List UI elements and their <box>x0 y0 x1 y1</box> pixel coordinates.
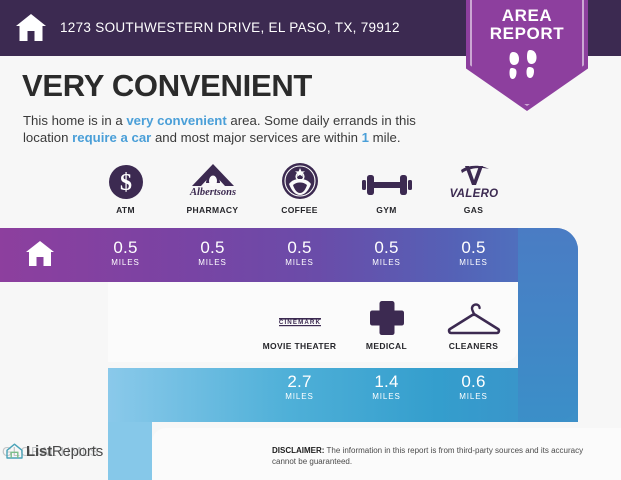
area-report-page: 1273 SOUTHWESTERN DRIVE, EL PASO, TX, 79… <box>0 0 621 480</box>
albertsons-logo-icon: Albertsons <box>169 160 256 200</box>
desc-part1: This home is in a <box>23 113 126 128</box>
brand-list: List <box>26 443 52 460</box>
valero-logo-icon: VALERO <box>430 160 517 200</box>
brand-reports: Reports <box>52 443 103 460</box>
amenity-label: CLEANERS <box>430 341 517 351</box>
desc-part3: and most major services are within <box>151 130 361 145</box>
starbucks-logo-icon <box>256 160 343 200</box>
distance-value: 1.4 <box>343 372 430 391</box>
amenity-label: PHARMACY <box>169 205 256 215</box>
desc-highlight-miles: 1 <box>362 130 369 145</box>
svg-text:VALERO: VALERO <box>449 188 498 200</box>
description-text: This home is in a very convenient area. … <box>23 112 448 146</box>
distance-value: 0.5 <box>82 238 169 257</box>
distance-value: 0.5 <box>343 238 430 257</box>
distance-unit: MILES <box>430 258 517 267</box>
disclaimer-label: DISCLAIMER: <box>272 446 324 455</box>
listreports-home-icon <box>6 443 23 459</box>
distance-value: 2.7 <box>256 372 343 391</box>
clothes-hanger-icon <box>430 296 517 336</box>
amenity-label: MEDICAL <box>343 341 430 351</box>
listreports-logo[interactable]: ListReports <box>6 440 103 462</box>
distance-unit: MILES <box>343 258 430 267</box>
distance-cell-gas: 0.5 MILES <box>430 238 517 267</box>
distance-unit: MILES <box>82 258 169 267</box>
svg-text:$: $ <box>120 170 132 196</box>
amenity-icons-row-1: $ ATM Albertsons PHARMACY <box>0 160 621 220</box>
amenity-atm: $ ATM <box>82 160 169 215</box>
page-title: VERY CONVENIENT <box>22 68 312 104</box>
distance-cell-atm: 0.5 MILES <box>82 238 169 267</box>
distance-cell-cleaners: 0.6 MILES <box>430 372 517 401</box>
cinemark-logo-icon: CINEMARK <box>256 296 343 336</box>
home-icon <box>15 13 47 43</box>
distance-cell-medical: 1.4 MILES <box>343 372 430 401</box>
distance-value: 0.6 <box>430 372 517 391</box>
distance-value: 0.5 <box>169 238 256 257</box>
distance-unit: MILES <box>169 258 256 267</box>
distance-value: 0.5 <box>430 238 517 257</box>
amenity-movie-theater: CINEMARK MOVIE THEATER <box>256 296 343 351</box>
amenity-gas: VALERO GAS <box>430 160 517 215</box>
amenity-coffee: COFFEE <box>256 160 343 215</box>
svg-text:Albertsons: Albertsons <box>188 187 235 198</box>
badge-line1: AREA <box>466 6 588 26</box>
distance-value: 0.5 <box>256 238 343 257</box>
amenity-gym: GYM <box>343 160 430 215</box>
svg-text:CINEMARK: CINEMARK <box>278 319 320 326</box>
distance-unit: MILES <box>430 392 517 401</box>
distance-cell-movie-theater: 2.7 MILES <box>256 372 343 401</box>
amenity-label: GYM <box>343 205 430 215</box>
amenity-pharmacy: Albertsons PHARMACY <box>169 160 256 215</box>
listreports-wordmark: ListReports <box>26 443 103 460</box>
desc-highlight-convenient: very convenient <box>126 113 226 128</box>
atm-dollar-icon: $ <box>82 160 169 200</box>
area-report-badge: AREA REPORT <box>466 0 588 111</box>
dumbbell-icon <box>343 160 430 200</box>
distance-cell-coffee: 0.5 MILES <box>256 238 343 267</box>
distance-unit: MILES <box>256 258 343 267</box>
amenity-label: ATM <box>82 205 169 215</box>
distance-unit: MILES <box>256 392 343 401</box>
amenity-label: COFFEE <box>256 205 343 215</box>
medical-cross-icon <box>343 296 430 336</box>
amenity-label: MOVIE THEATER <box>256 341 343 351</box>
amenity-cleaners: CLEANERS <box>430 296 517 351</box>
distance-cell-gym: 0.5 MILES <box>343 238 430 267</box>
amenity-icons-row-2: CINEMARK MOVIE THEATER MEDICAL CLEANERS <box>0 296 621 356</box>
footprints-icon <box>508 50 548 82</box>
desc-part4: mile. <box>369 130 401 145</box>
distance-unit: MILES <box>343 392 430 401</box>
amenity-medical: MEDICAL <box>343 296 430 351</box>
badge-line2: REPORT <box>466 24 588 44</box>
desc-highlight-car: require a car <box>72 130 151 145</box>
distance-cell-pharmacy: 0.5 MILES <box>169 238 256 267</box>
property-address: 1273 SOUTHWESTERN DRIVE, EL PASO, TX, 79… <box>60 0 400 56</box>
amenity-label: GAS <box>430 205 517 215</box>
home-marker-icon <box>25 240 55 268</box>
disclaimer: DISCLAIMER: The information in this repo… <box>272 445 592 467</box>
